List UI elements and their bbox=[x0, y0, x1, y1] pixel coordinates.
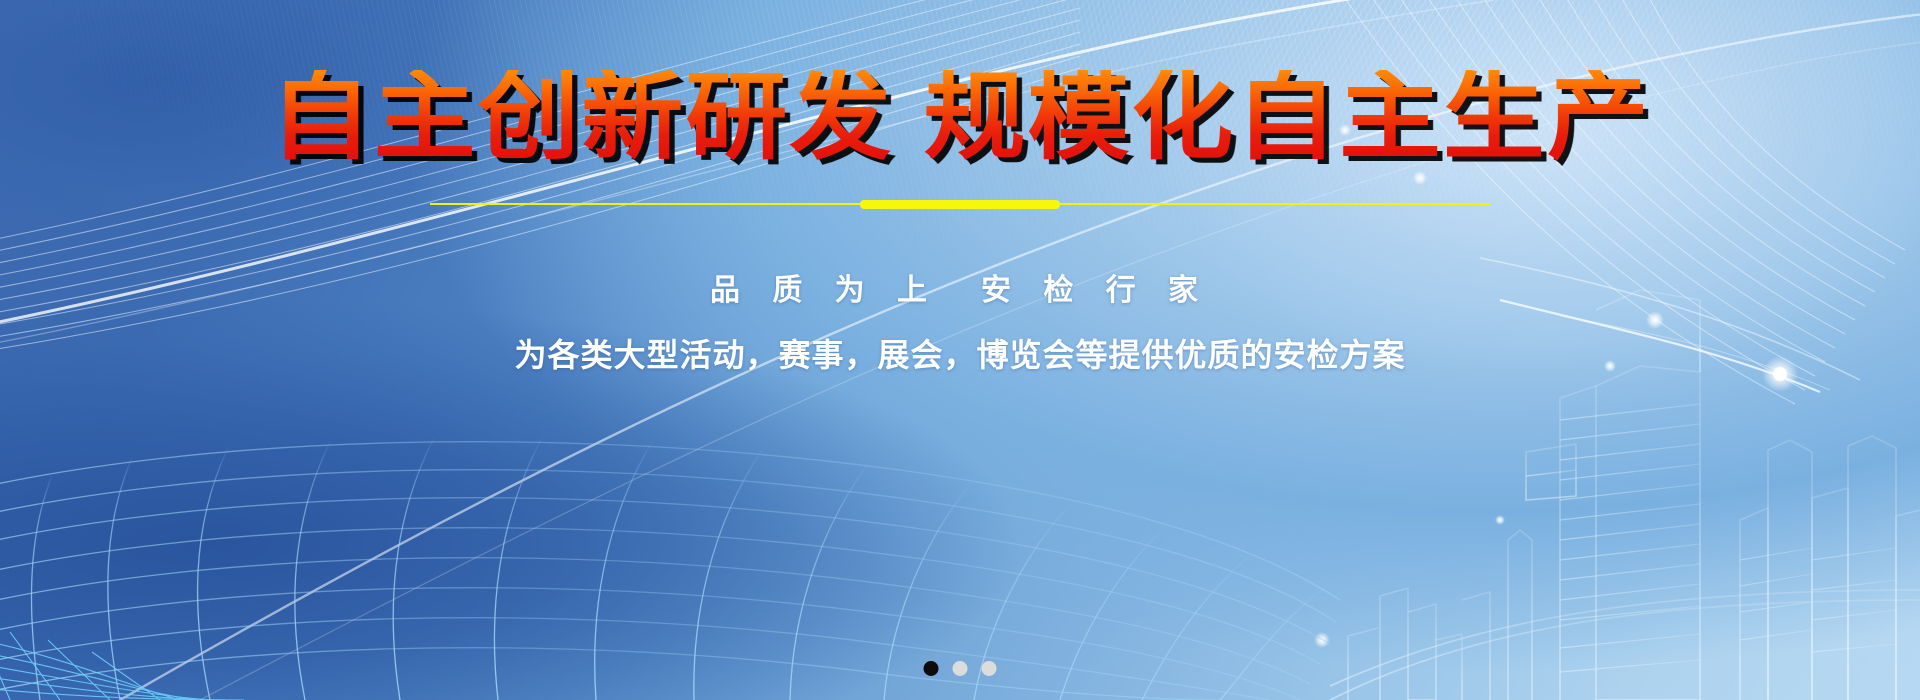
banner-content: 自主创新研发 规模化自主生产 品 质 为 上 安 检 行 家 为各类大型活动，赛… bbox=[0, 0, 1920, 700]
subtitle-secondary: 为各类大型活动，赛事，展会，博览会等提供优质的安检方案 bbox=[514, 330, 1405, 376]
subtitle-primary: 品 质 为 上 安 检 行 家 bbox=[710, 265, 1210, 309]
hero-banner: 自主创新研发 规模化自主生产 品 质 为 上 安 检 行 家 为各类大型活动，赛… bbox=[0, 0, 1920, 700]
carousel-dot-1[interactable] bbox=[924, 661, 939, 676]
carousel-dot-3[interactable] bbox=[982, 661, 997, 676]
carousel-indicator bbox=[924, 661, 997, 676]
page-title: 自主创新研发 规模化自主生产 bbox=[270, 70, 1651, 166]
carousel-dot-2[interactable] bbox=[953, 661, 968, 676]
divider-thick-segment bbox=[860, 200, 1060, 209]
yellow-divider bbox=[430, 199, 1490, 209]
